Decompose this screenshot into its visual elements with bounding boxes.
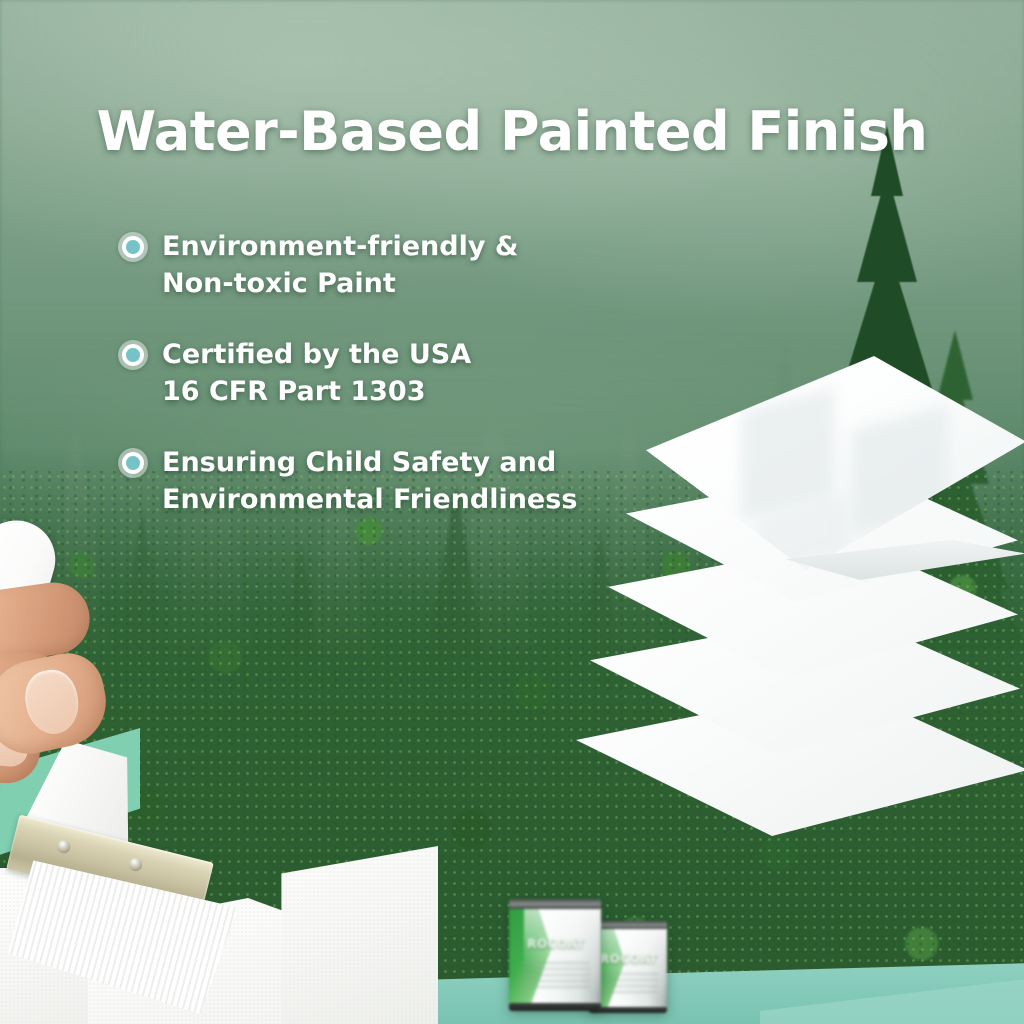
bullet-ring-icon <box>118 232 148 262</box>
bullet-ring-icon <box>118 448 148 478</box>
feature-text: Ensuring Child Safety and Environmental … <box>162 444 577 518</box>
can-highlight <box>524 899 601 1011</box>
can-highlight <box>601 921 667 1013</box>
hand-with-paint-brush <box>0 500 330 970</box>
product-feature-banner: ROCOAT ROCOAT <box>0 0 1024 1024</box>
paint-can-group: ROCOAT ROCOAT <box>505 895 685 1015</box>
window-reflection <box>742 389 834 520</box>
paint-can-front: ROCOAT <box>509 899 601 1011</box>
can-detail-text <box>600 973 658 997</box>
page-title: Water-Based Painted Finish <box>0 100 1024 163</box>
feature-item-1: Environment-friendly & Non-toxic Paint <box>118 228 678 302</box>
ferrule-rivet <box>128 857 144 873</box>
bullet-ring-icon <box>118 340 148 370</box>
feature-item-3: Ensuring Child Safety and Environmental … <box>118 444 678 518</box>
feature-list: Environment-friendly & Non-toxic Paint C… <box>118 228 678 552</box>
feature-text: Certified by the USA 16 CFR Part 1303 <box>162 336 471 410</box>
can-detail-text <box>522 962 590 991</box>
can-brand-label: ROCOAT <box>595 952 662 966</box>
hand <box>0 530 180 830</box>
feature-item-2: Certified by the USA 16 CFR Part 1303 <box>118 336 678 410</box>
can-brand-label: ROCOAT <box>516 937 595 951</box>
can-rim <box>509 899 601 909</box>
feature-text: Environment-friendly & Non-toxic Paint <box>162 228 518 302</box>
ferrule-rivet <box>56 839 72 855</box>
can-base <box>509 1003 601 1011</box>
